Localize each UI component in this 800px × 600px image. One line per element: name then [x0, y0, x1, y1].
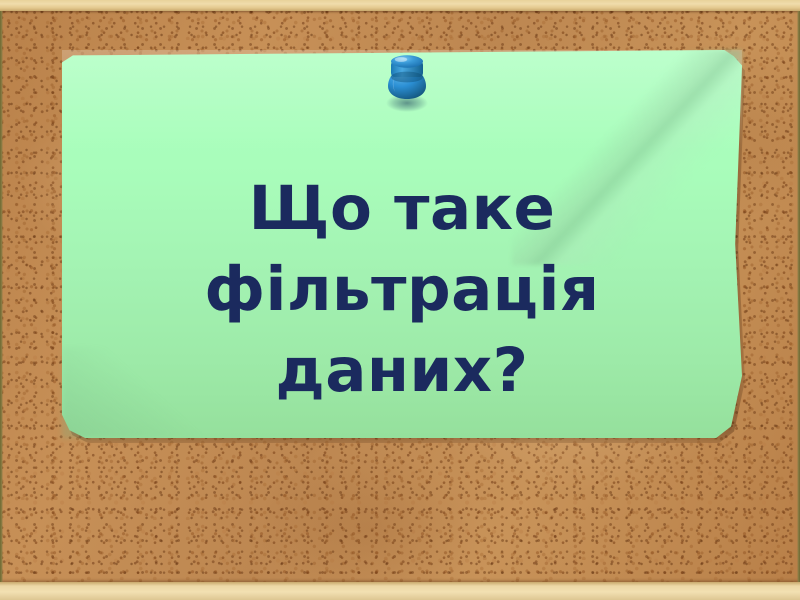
board-edge-left [0, 11, 3, 582]
page-title: Що таке фільтрація даних? [62, 168, 742, 411]
slide-canvas: Що таке фільтрація даних? [0, 0, 800, 600]
wood-frame-bottom [0, 582, 800, 600]
wood-frame-top [0, 0, 800, 11]
pushpin-icon[interactable] [371, 50, 443, 122]
